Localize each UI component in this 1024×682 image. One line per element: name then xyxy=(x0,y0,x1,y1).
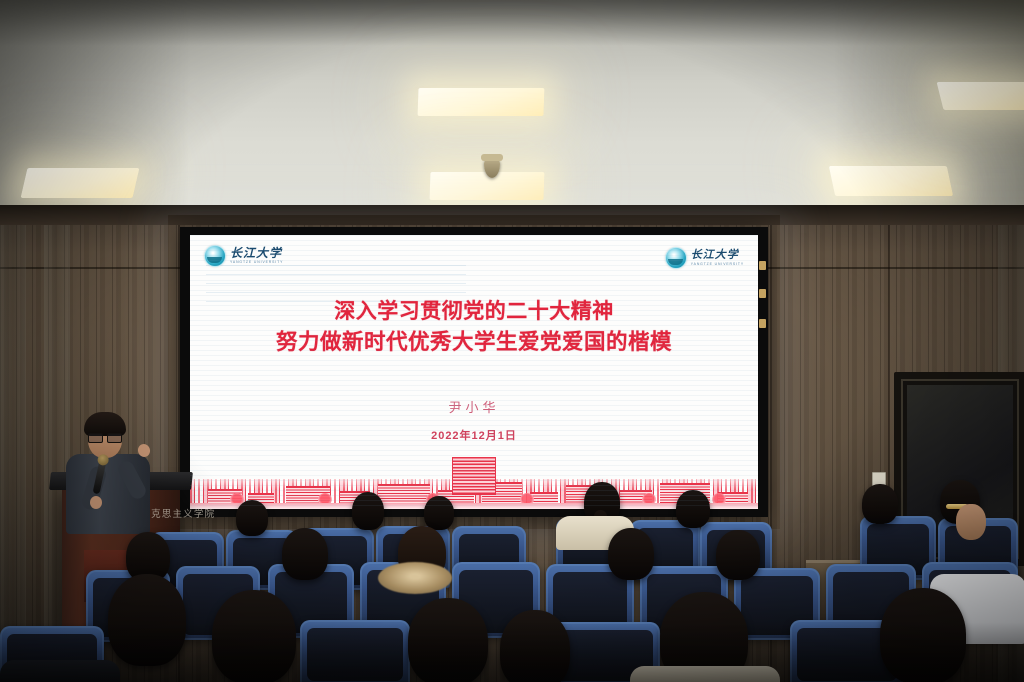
ceiling-light-panel xyxy=(430,172,545,200)
slide-logo-right: 长江大学 YANGTZE UNIVERSITY xyxy=(665,247,744,269)
audience-head xyxy=(862,484,898,524)
bezel-indicator-light xyxy=(759,319,766,328)
audience xyxy=(0,470,1024,682)
audience-head xyxy=(236,500,268,536)
ceiling-light-panel xyxy=(418,88,545,116)
slide-author: 尹小华 xyxy=(190,397,758,416)
slide-title: 深入学习贯彻党的二十大精神 努力做新时代优秀大学生爱党爱国的楷模 xyxy=(190,297,758,357)
ceiling xyxy=(0,0,1024,232)
audience-head xyxy=(282,528,328,580)
audience-face xyxy=(956,504,986,540)
logo-right-cn: 长江大学 xyxy=(691,250,744,261)
ceiling-right-shadow xyxy=(834,0,1024,232)
slide-date: 2022年12月1日 xyxy=(190,427,758,443)
audience-head xyxy=(676,490,710,528)
logo-left-en: YANGTZE UNIVERSITY xyxy=(230,261,283,264)
slide-title-line1: 深入学习贯彻党的二十大精神 xyxy=(190,297,758,327)
auditorium-seat xyxy=(300,620,410,682)
glasses-icon xyxy=(88,433,122,441)
slide-title-line2: 努力做新时代优秀大学生爱党爱国的楷模 xyxy=(190,327,758,358)
audience-head xyxy=(212,590,296,682)
audience-head xyxy=(500,610,570,682)
bezel-indicator-light xyxy=(759,289,766,298)
university-crest-icon xyxy=(204,245,226,267)
slide-logo-left: 长江大学 YANGTZE UNIVERSITY xyxy=(204,245,283,267)
ceiling-light-panel xyxy=(937,82,1024,110)
presentation-slide: 长江大学 YANGTZE UNIVERSITY 长江大学 YANGTZE UNI… xyxy=(190,235,758,509)
audience-coat xyxy=(0,660,120,682)
audience-head xyxy=(352,492,384,530)
fur-hood xyxy=(378,562,452,594)
logo-left-cn: 长江大学 xyxy=(230,247,283,259)
audience-coat xyxy=(630,666,780,682)
audience-head xyxy=(716,530,760,580)
ceiling-light-panel xyxy=(21,168,140,198)
ceiling-light-panel xyxy=(829,166,953,196)
university-crest-icon xyxy=(665,247,687,269)
bezel-indicator-light xyxy=(759,261,766,270)
audience-head xyxy=(880,588,966,682)
audience-head xyxy=(608,528,654,580)
logo-right-en: YANGTZE UNIVERSITY xyxy=(691,263,744,266)
audience-head xyxy=(408,598,488,682)
audience-head xyxy=(108,574,186,666)
lecture-hall-photo: 长江大学 YANGTZE UNIVERSITY 长江大学 YANGTZE UNI… xyxy=(0,0,1024,682)
audience-head xyxy=(424,496,454,530)
ceiling-wall-soffit xyxy=(0,205,1024,225)
